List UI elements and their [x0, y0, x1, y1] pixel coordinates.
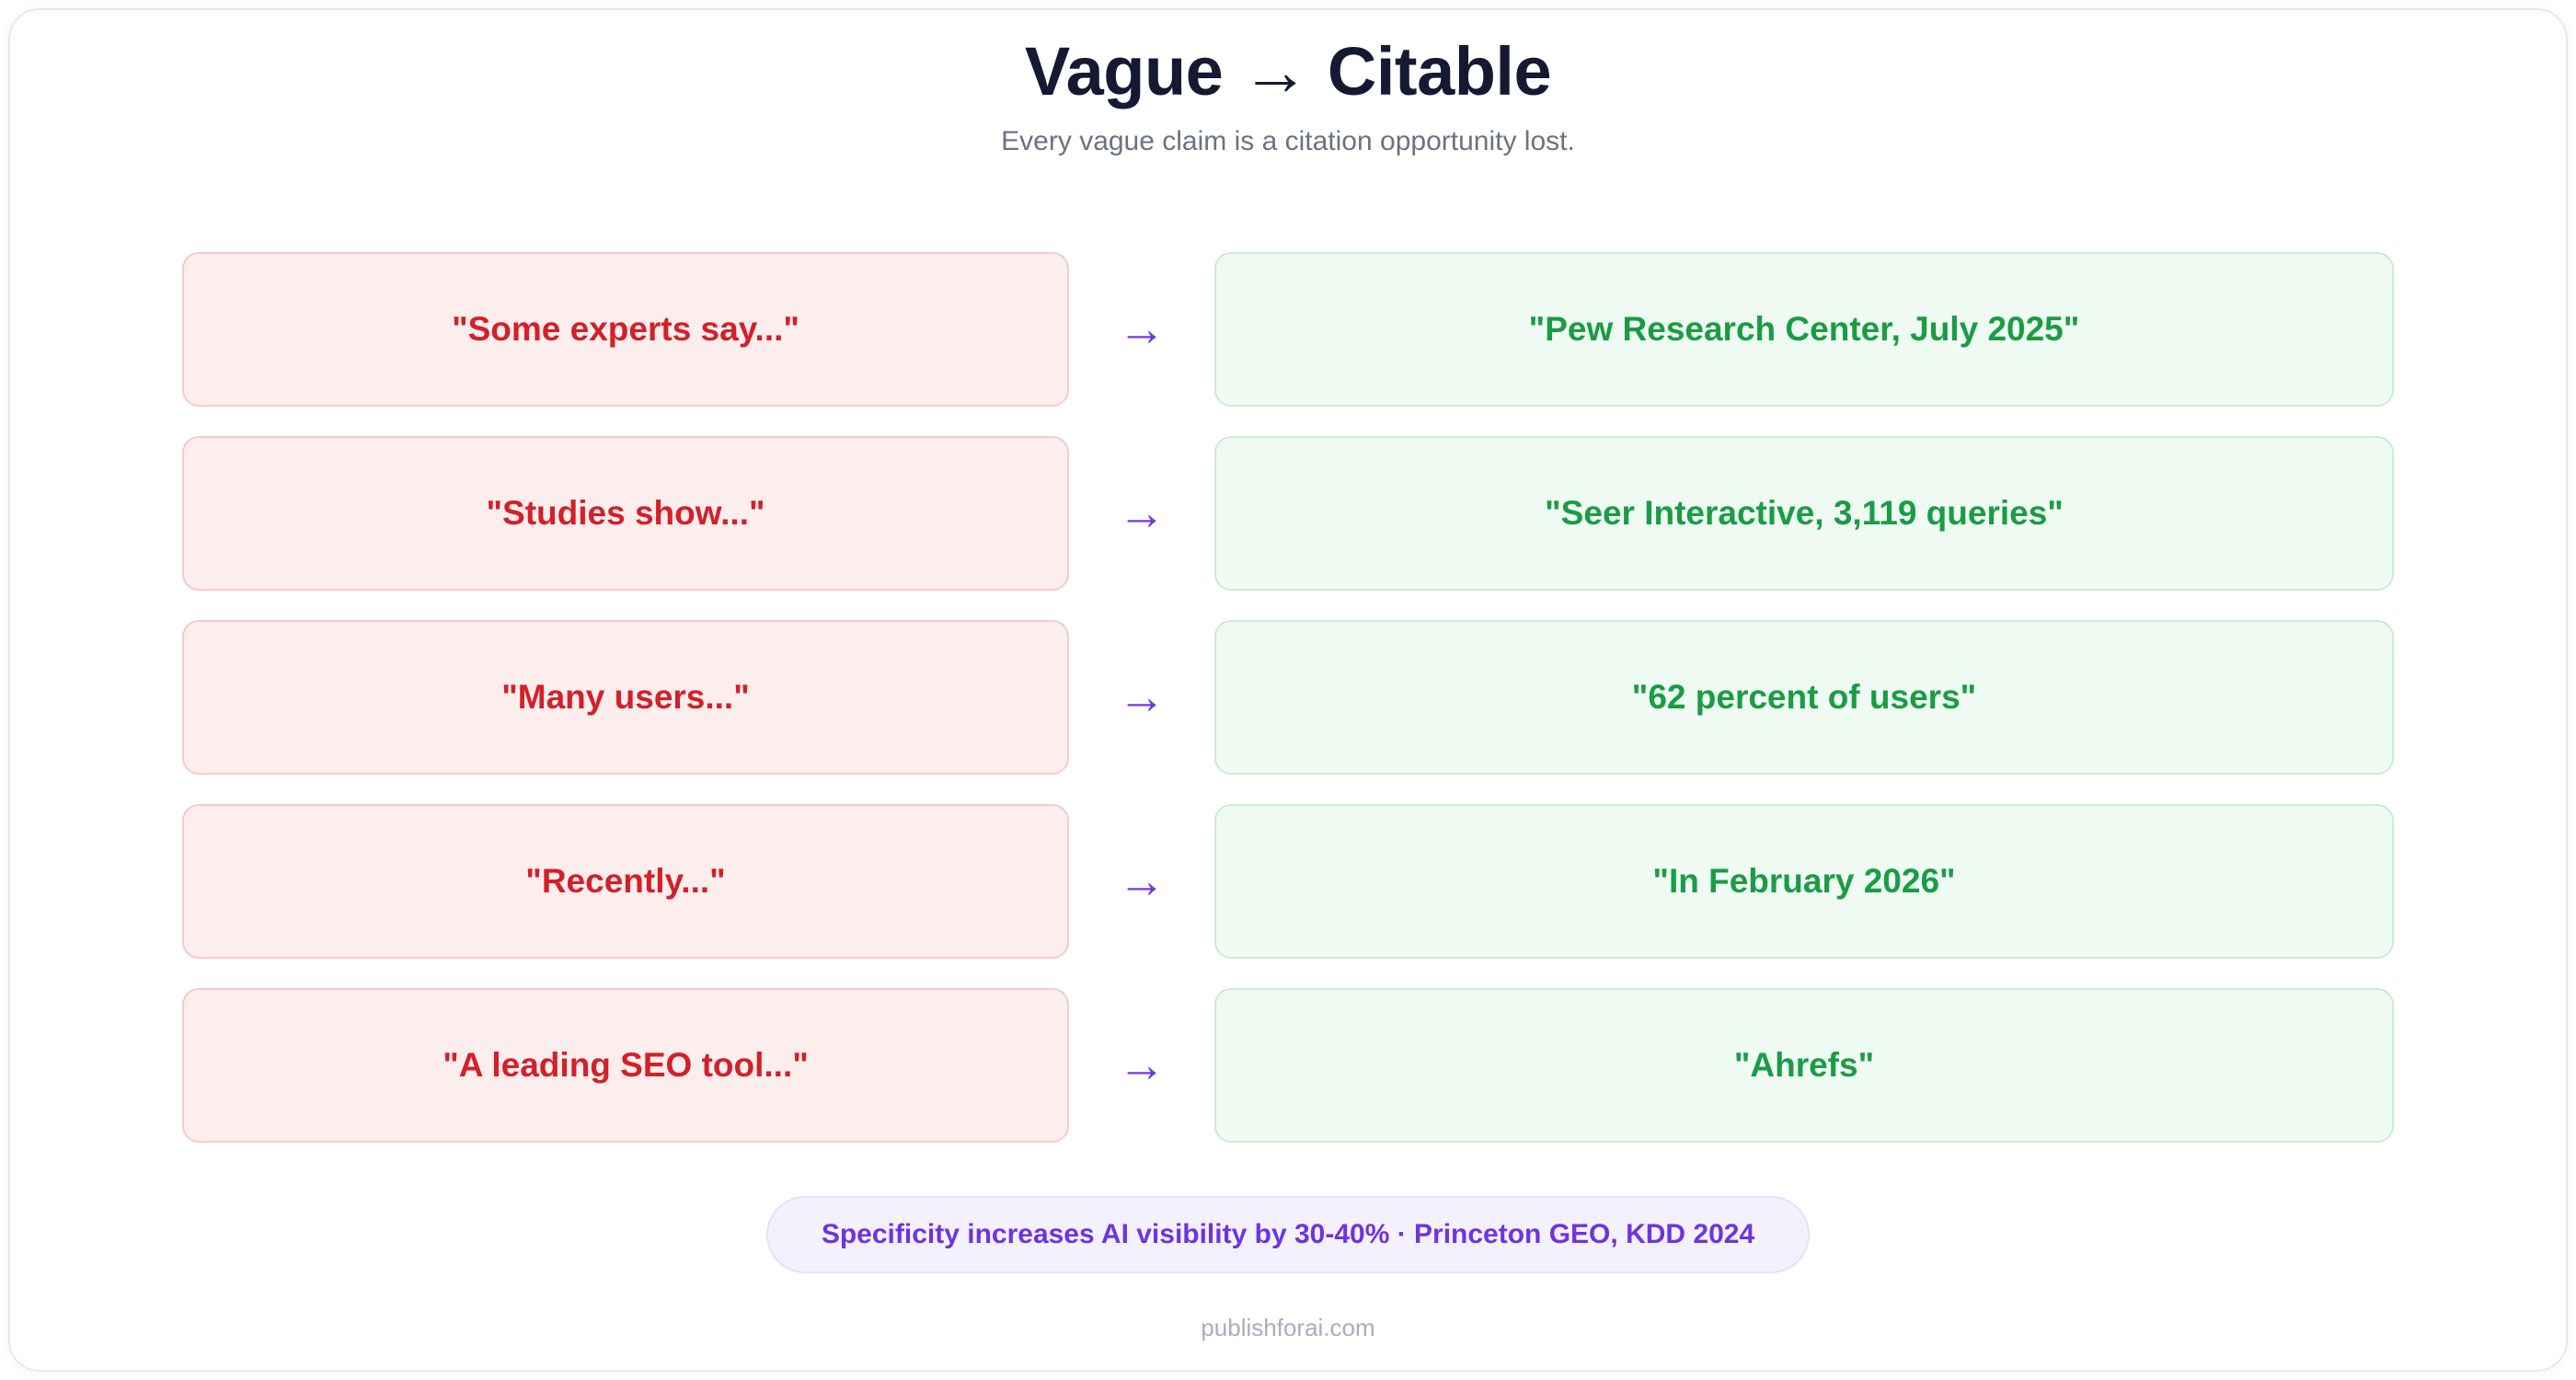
citable-claim-card[interactable]: "Pew Research Center, July 2025" — [1214, 252, 2394, 407]
vague-claim-card[interactable]: "Some experts say..." — [182, 252, 1069, 407]
vague-claim-card[interactable]: "Recently..." — [182, 804, 1069, 959]
arrow-cell: → — [1069, 988, 1214, 1143]
watermark: publishforai.com — [0, 1314, 2576, 1342]
arrow-right-icon: → — [1118, 489, 1166, 537]
comparison-row: "Some experts say..."→"Pew Research Cent… — [182, 252, 2394, 407]
page-title: Vague → Citable — [0, 35, 2576, 109]
header: Vague → Citable Every vague claim is a c… — [0, 35, 2576, 158]
citable-claim-card[interactable]: "Seer Interactive, 3,119 queries" — [1214, 436, 2394, 591]
comparison-row: "Studies show..."→"Seer Interactive, 3,1… — [182, 436, 2394, 591]
vague-claim-label: "Some experts say..." — [452, 309, 799, 350]
citable-claim-card[interactable]: "62 percent of users" — [1214, 620, 2394, 775]
arrow-right-icon: → — [1118, 673, 1166, 721]
vague-claim-label: "Studies show..." — [486, 493, 765, 534]
footer-badge-container: Specificity increases AI visibility by 3… — [0, 1196, 2576, 1273]
comparison-row: "Many users..."→"62 percent of users" — [182, 620, 2394, 775]
stat-badge: Specificity increases AI visibility by 3… — [766, 1196, 1810, 1273]
comparison-list: "Some experts say..."→"Pew Research Cent… — [182, 252, 2394, 1143]
arrow-right-icon: → — [1118, 1041, 1166, 1089]
vague-claim-label: "Many users..." — [501, 677, 750, 718]
vague-claim-label: "A leading SEO tool..." — [443, 1045, 809, 1086]
citable-claim-label: "Ahrefs" — [1734, 1045, 1874, 1086]
citable-claim-card[interactable]: "In February 2026" — [1214, 804, 2394, 959]
citable-claim-label: "Pew Research Center, July 2025" — [1529, 309, 2080, 350]
arrow-right-icon: → — [1118, 305, 1166, 353]
vague-claim-label: "Recently..." — [525, 861, 725, 902]
vague-claim-card[interactable]: "Many users..." — [182, 620, 1069, 775]
comparison-row: "Recently..."→"In February 2026" — [182, 804, 2394, 959]
infographic-frame: Vague → Citable Every vague claim is a c… — [0, 0, 2576, 1380]
vague-claim-card[interactable]: "A leading SEO tool..." — [182, 988, 1069, 1143]
comparison-row: "A leading SEO tool..."→"Ahrefs" — [182, 988, 2394, 1143]
citable-claim-label: "Seer Interactive, 3,119 queries" — [1545, 493, 2064, 534]
vague-claim-card[interactable]: "Studies show..." — [182, 436, 1069, 591]
stat-badge-label: Specificity increases AI visibility by 3… — [822, 1218, 1754, 1251]
arrow-cell: → — [1069, 620, 1214, 775]
arrow-right-icon: → — [1118, 857, 1166, 905]
arrow-cell: → — [1069, 804, 1214, 959]
arrow-cell: → — [1069, 252, 1214, 407]
page-subtitle: Every vague claim is a citation opportun… — [0, 125, 2576, 158]
arrow-cell: → — [1069, 436, 1214, 591]
citable-claim-label: "62 percent of users" — [1632, 677, 1976, 718]
citable-claim-card[interactable]: "Ahrefs" — [1214, 988, 2394, 1143]
citable-claim-label: "In February 2026" — [1652, 861, 1955, 902]
